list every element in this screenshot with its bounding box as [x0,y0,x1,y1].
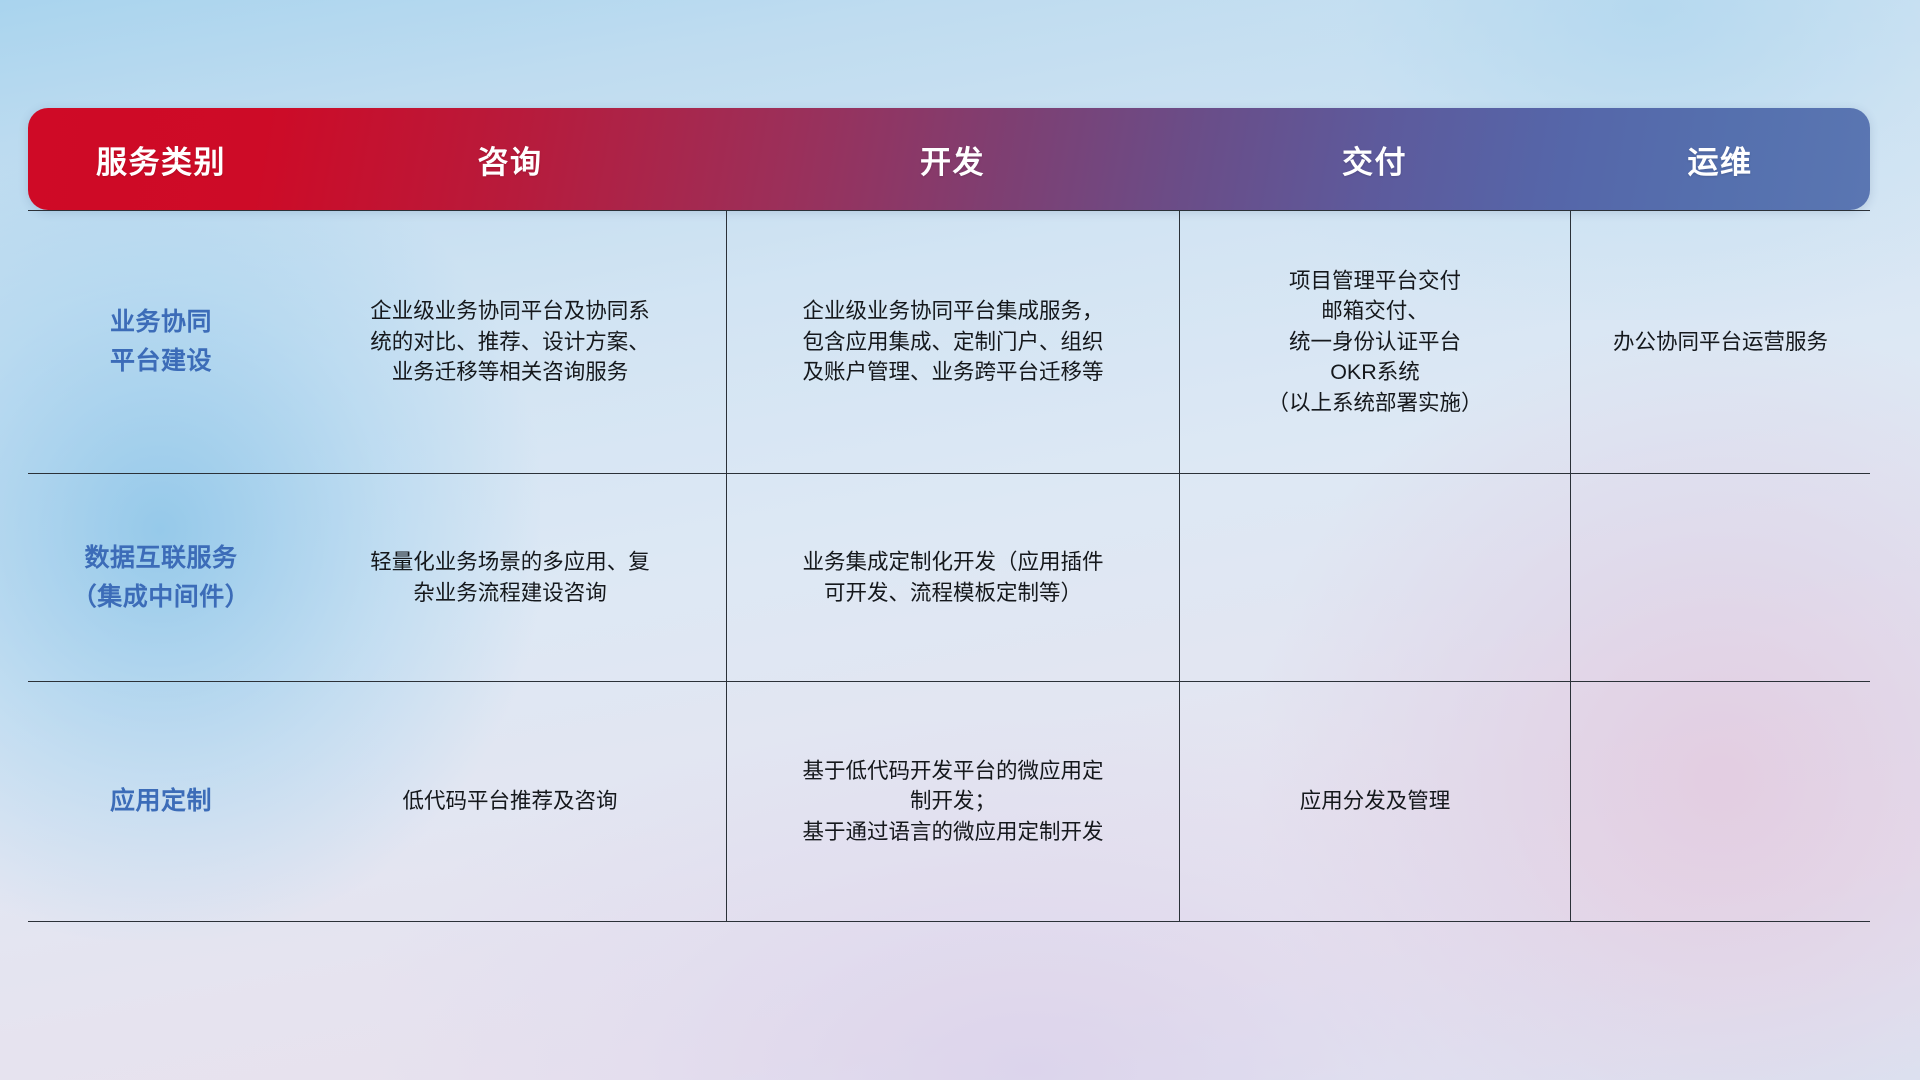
header-cell-consulting: 咨询 [294,108,726,210]
cell-operations [1570,682,1870,921]
cell-consulting: 低代码平台推荐及咨询 [294,682,726,921]
table-body: 业务协同 平台建设 企业级业务协同平台及协同系 统的对比、推荐、设计方案、 业务… [28,210,1870,922]
cell-delivery: 应用分发及管理 [1179,682,1570,921]
row-category-label: 应用定制 [28,682,294,921]
header-cell-service-category: 服务类别 [28,108,294,210]
cell-development: 基于低代码开发平台的微应用定 制开发； 基于通过语言的微应用定制开发 [726,682,1179,921]
cell-delivery: 项目管理平台交付 邮箱交付、 统一身份认证平台 OKR系统 （以上系统部署实施） [1179,211,1570,473]
header-cell-development: 开发 [726,108,1179,210]
row-category-label: 数据互联服务 （集成中间件） [28,474,294,681]
cell-development: 业务集成定制化开发（应用插件 可开发、流程模板定制等） [726,474,1179,681]
table-row: 数据互联服务 （集成中间件） 轻量化业务场景的多应用、复 杂业务流程建设咨询 业… [28,474,1870,682]
cell-consulting: 企业级业务协同平台及协同系 统的对比、推荐、设计方案、 业务迁移等相关咨询服务 [294,211,726,473]
row-category-label: 业务协同 平台建设 [28,211,294,473]
cell-operations: 办公协同平台运营服务 [1570,211,1870,473]
cell-consulting: 轻量化业务场景的多应用、复 杂业务流程建设咨询 [294,474,726,681]
header-cell-delivery: 交付 [1179,108,1570,210]
cell-delivery [1179,474,1570,681]
table-header-row: 服务类别 咨询 开发 交付 运维 [28,108,1870,210]
cell-operations [1570,474,1870,681]
header-cell-operations: 运维 [1570,108,1870,210]
service-matrix-table: 服务类别 咨询 开发 交付 运维 业务协同 平台建设 企业级业务协同平台及协同系… [28,108,1870,922]
table-row: 应用定制 低代码平台推荐及咨询 基于低代码开发平台的微应用定 制开发； 基于通过… [28,682,1870,922]
cell-development: 企业级业务协同平台集成服务， 包含应用集成、定制门户、组织 及账户管理、业务跨平… [726,211,1179,473]
table-row: 业务协同 平台建设 企业级业务协同平台及协同系 统的对比、推荐、设计方案、 业务… [28,210,1870,474]
